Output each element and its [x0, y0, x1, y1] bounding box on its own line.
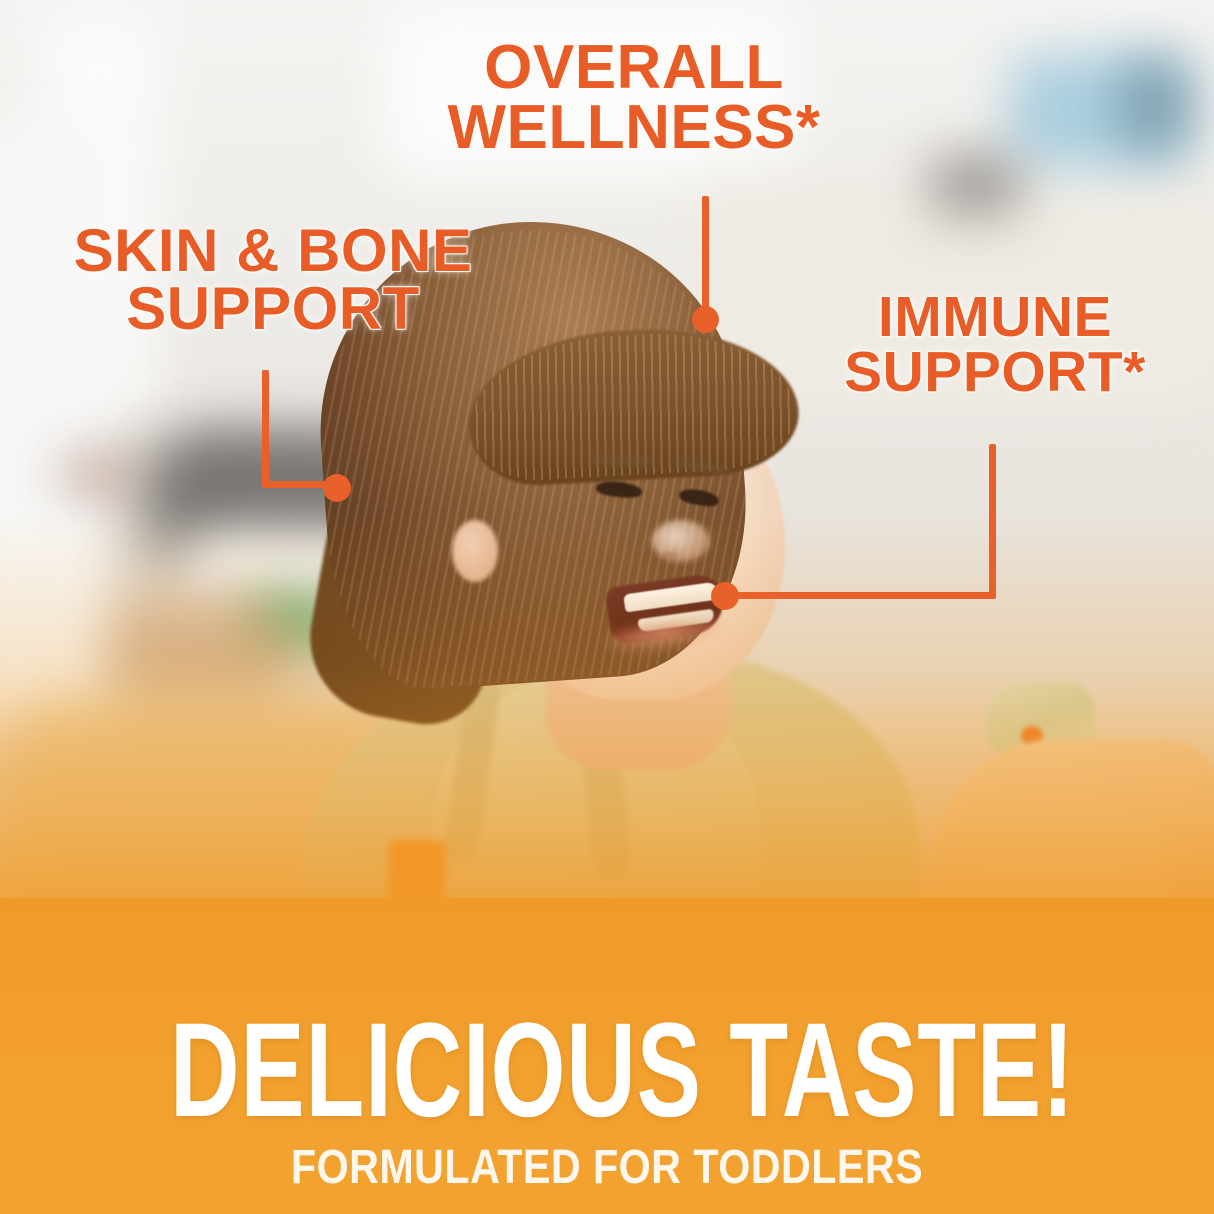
child-nose [652, 520, 710, 562]
callout-dot-overall-wellness [692, 306, 719, 333]
callout-label-immune-support: IMMUNE SUPPORT* [790, 290, 1200, 399]
marketing-banner: OVERALL WELLNESS* SKIN & BONE SUPPORT IM… [0, 0, 1214, 1214]
callout-dot-skin-and-bone [323, 474, 351, 502]
headline-delicious-taste: DELICIOUS TASTE! [170, 1015, 1044, 1128]
bottom-text-block: DELICIOUS TASTE! FORMULATED FOR TODDLERS [0, 1015, 1214, 1192]
child-ear [452, 520, 498, 582]
leader-segment-vertical [989, 444, 996, 599]
callout-label-overall-wellness: OVERALL WELLNESS* [434, 38, 834, 157]
child-nostril [662, 552, 678, 560]
callout-dot-immune-support [711, 582, 739, 610]
leader-segment-vertical [702, 196, 709, 314]
leader-segment-vertical [262, 370, 269, 488]
subheadline-formulated-for-toddlers: FORMULATED FOR TODDLERS [85, 1144, 1129, 1192]
callout-label-skin-and-bone-support: SKIN & BONE SUPPORT [18, 222, 528, 337]
leader-segment-horizontal [724, 592, 996, 599]
